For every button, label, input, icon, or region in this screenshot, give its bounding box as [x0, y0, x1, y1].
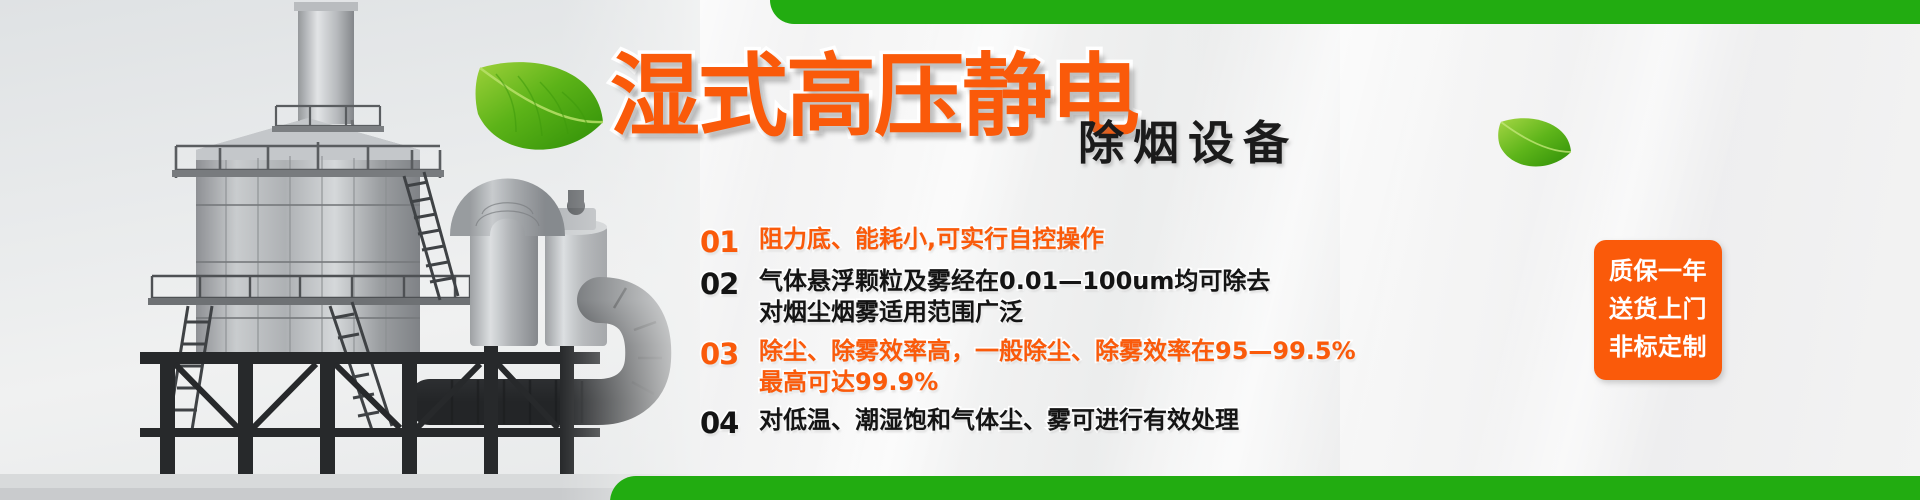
green-bar-bottom	[610, 476, 1920, 500]
badge-line: 非标定制	[1609, 329, 1707, 367]
feature-text: 气体悬浮颗粒及雾经在0.01—100um均可除去对烟尘烟雾适用范围广泛	[752, 266, 1270, 328]
feature-text-line: 对低温、潮湿饱和气体尘、雾可进行有效处理	[759, 405, 1239, 436]
feature-number: 04	[700, 405, 752, 441]
leaf-icon	[1495, 112, 1575, 174]
badge-line: 质保一年	[1609, 253, 1707, 291]
feature-item-02: 02气体悬浮颗粒及雾经在0.01—100um均可除去对烟尘烟雾适用范围广泛	[700, 266, 1560, 328]
badge-line: 送货上门	[1609, 291, 1707, 329]
plant-illustration	[0, 0, 700, 500]
feature-text-line: 对烟尘烟雾适用范围广泛	[759, 297, 1270, 328]
feature-text-line: 气体悬浮颗粒及雾经在0.01—100um均可除去	[759, 266, 1270, 297]
feature-number: 01	[700, 224, 752, 260]
guarantee-badge: 质保一年送货上门非标定制	[1594, 240, 1722, 380]
feature-text: 阻力底、能耗小,可实行自控操作	[752, 224, 1104, 255]
feature-item-01: 01阻力底、能耗小,可实行自控操作	[700, 224, 1560, 260]
feature-list: 01阻力底、能耗小,可实行自控操作02气体悬浮颗粒及雾经在0.01—100um均…	[700, 224, 1560, 444]
feature-text: 除尘、除雾效率高，一般除尘、除雾效率在95—99.5%最高可达99.9%	[752, 336, 1356, 398]
feature-text-line: 最高可达99.9%	[759, 367, 1356, 398]
feature-number: 02	[700, 266, 752, 302]
feature-text-line: 阻力底、能耗小,可实行自控操作	[759, 224, 1104, 255]
feature-item-03: 03除尘、除雾效率高，一般除尘、除雾效率在95—99.5%最高可达99.9%	[700, 336, 1560, 398]
equipment-photo	[0, 0, 700, 500]
headline-block: 湿式高压静电	[610, 52, 1138, 142]
page-title: 湿式高压静电	[610, 52, 1138, 142]
feature-item-04: 04对低温、潮湿饱和气体尘、雾可进行有效处理	[700, 405, 1560, 441]
green-bar-top	[770, 0, 1920, 24]
feature-text: 对低温、潮湿饱和气体尘、雾可进行有效处理	[752, 405, 1239, 436]
feature-number: 03	[700, 336, 752, 372]
page-subtitle: 除烟设备	[1078, 107, 1298, 173]
promo-banner: 湿式高压静电 除烟设备 01阻力底、能耗小,可实行自控操作02气体悬浮颗粒及雾经…	[0, 0, 1920, 500]
feature-text-line: 除尘、除雾效率高，一般除尘、除雾效率在95—99.5%	[759, 336, 1356, 367]
